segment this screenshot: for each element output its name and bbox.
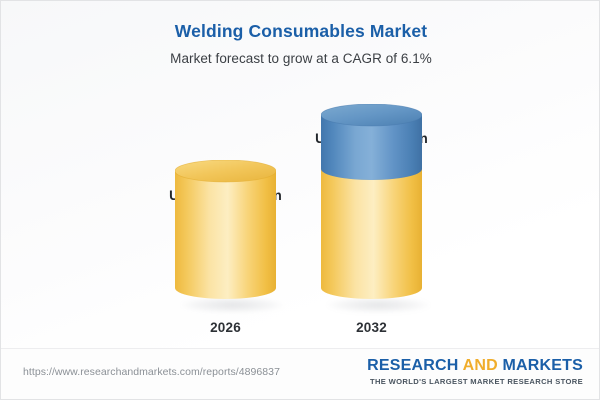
category-label-2026: 2026 <box>150 320 301 335</box>
cylinder-2026[interactable] <box>175 160 276 304</box>
cylinder-2032-svg <box>321 104 422 299</box>
report-url[interactable]: https://www.researchandmarkets.com/repor… <box>23 366 280 378</box>
logo-and: AND <box>463 357 498 374</box>
category-label-2032: 2032 <box>296 320 447 335</box>
logo-tagline: THE WORLD'S LARGEST MARKET RESEARCH STOR… <box>367 377 583 387</box>
footer: https://www.researchandmarkets.com/repor… <box>1 348 600 399</box>
brand-logo[interactable]: RESEARCH AND MARKETS THE WORLD'S LARGEST… <box>367 357 583 387</box>
chart-card: Welding Consumables Market Market foreca… <box>0 0 600 400</box>
cylinder-2032[interactable] <box>321 104 422 304</box>
cylinder-2026-svg <box>175 160 276 299</box>
logo-wordmark: RESEARCH AND MARKETS <box>367 357 583 375</box>
plot-area: USD 15.46 Billion <box>1 1 600 349</box>
logo-markets: MARKETS <box>498 357 583 374</box>
logo-research: RESEARCH <box>367 357 462 374</box>
